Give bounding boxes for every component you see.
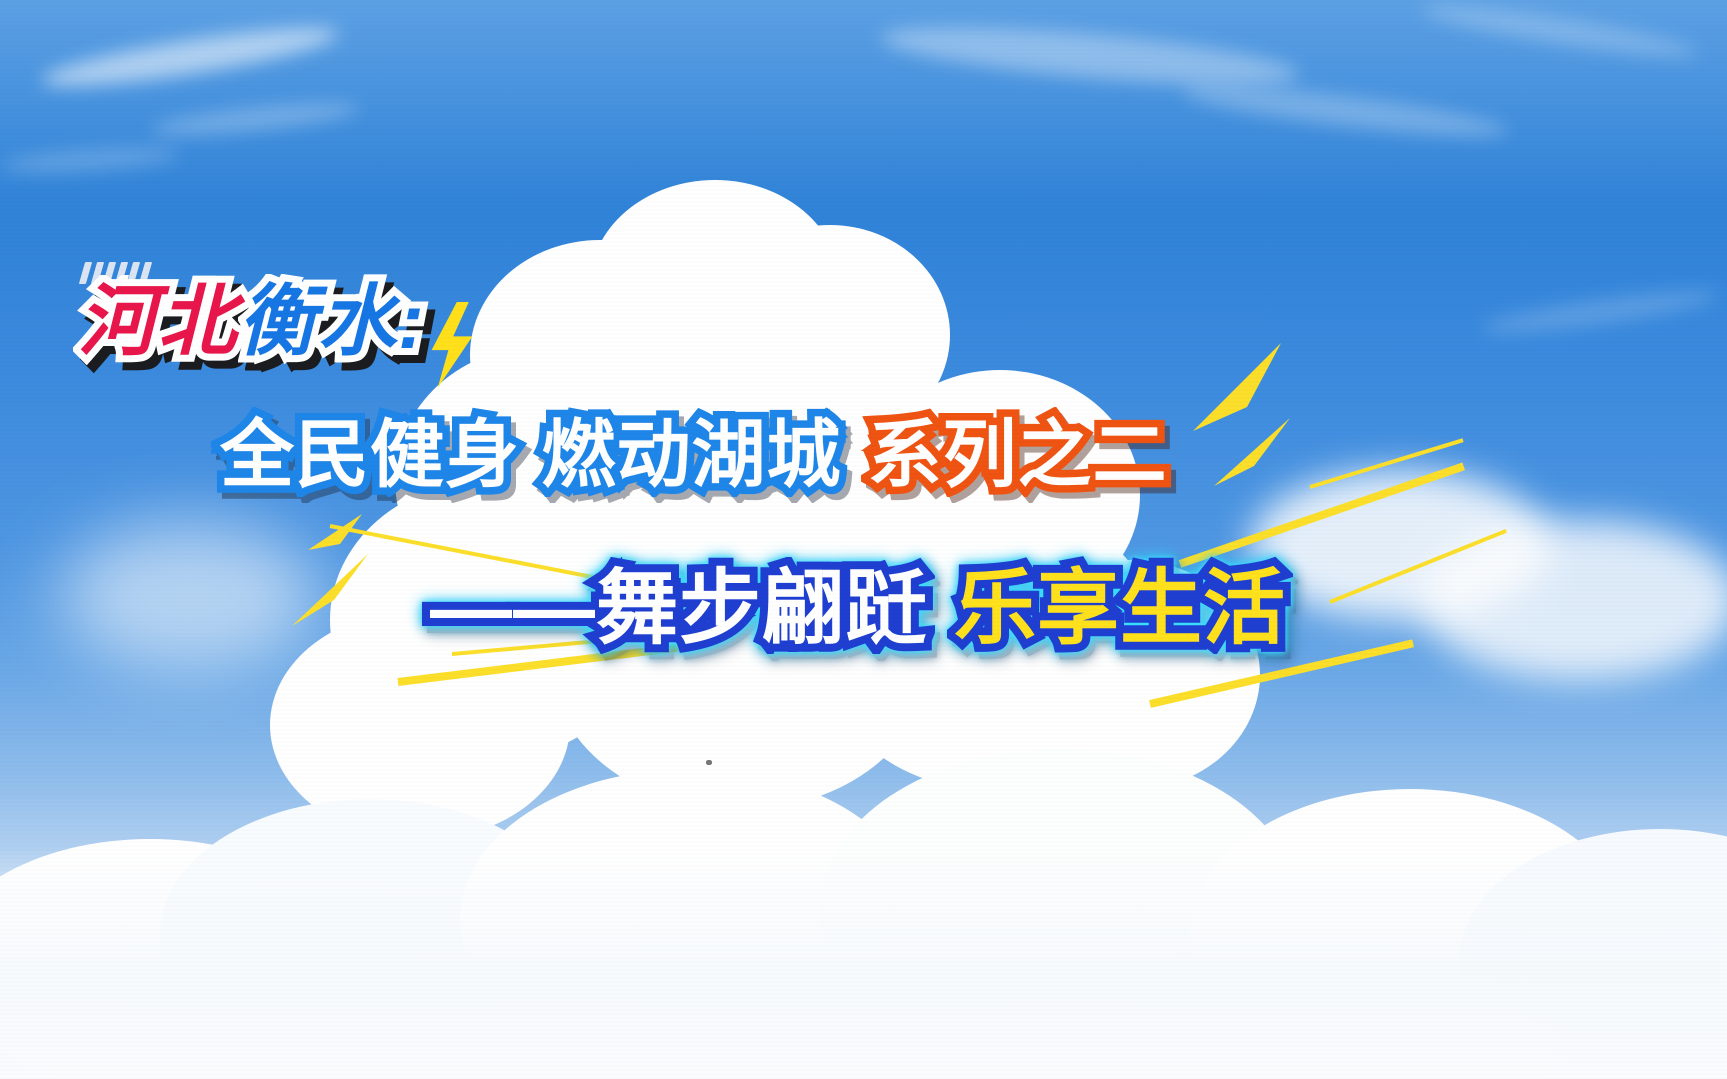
- tick-dash-mark: [127, 262, 140, 284]
- tick-dash-mark: [103, 262, 116, 284]
- title-card-stage: 河北衡水: 全民健身 燃动湖城系列之二 ——舞步翩跹乐享生活: [0, 0, 1727, 1079]
- horizon-fade: [0, 849, 1727, 1079]
- spark-triangle-icon: [288, 548, 378, 638]
- tick-dash-mark: [115, 262, 128, 284]
- spark-triangle-icon: [1208, 408, 1298, 498]
- tick-dash-group: [82, 262, 149, 284]
- bird-speck: [706, 760, 712, 765]
- tick-dash-mark: [91, 262, 104, 284]
- cloud-puff: [60, 520, 320, 670]
